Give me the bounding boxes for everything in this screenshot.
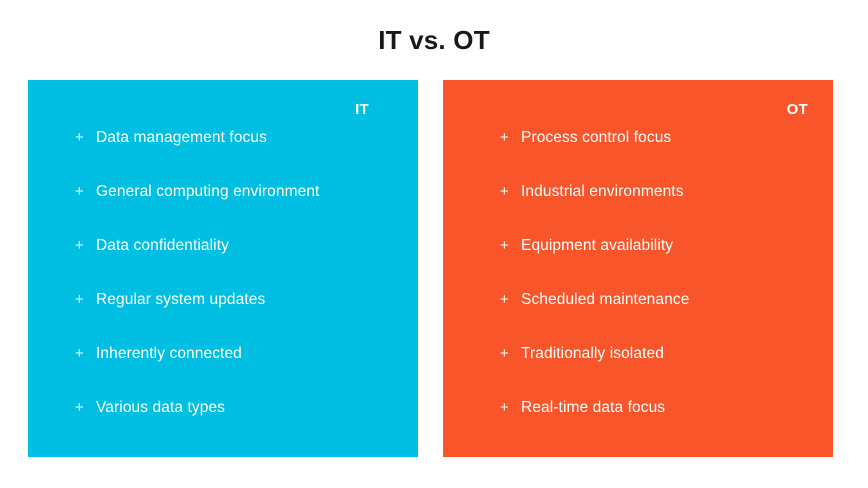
list-item: + Regular system updates [28,289,418,343]
page-title: IT vs. OT [0,24,868,56]
list-item-label: Equipment availability [521,235,833,257]
plus-icon: + [75,127,96,149]
list-item-label: Scheduled maintenance [521,289,833,311]
list-item: + Industrial environments [443,181,833,235]
list-item: + Traditionally isolated [443,343,833,397]
list-item-label: Inherently connected [96,343,418,365]
list-item: + Various data types [28,397,418,451]
plus-icon: + [500,235,521,257]
list-item: + Process control focus [443,127,833,181]
list-item: + Real-time data focus [443,397,833,451]
list-item-label: Various data types [96,397,418,419]
list-item-label: Data management focus [96,127,418,149]
plus-icon: + [500,397,521,419]
plus-icon: + [75,343,96,365]
list-item-label: General computing environment [96,181,418,203]
panel-it-header: IT [355,100,369,120]
list-item: + Equipment availability [443,235,833,289]
list-item-label: Traditionally isolated [521,343,833,365]
list-item-label: Process control focus [521,127,833,149]
list-item-label: Industrial environments [521,181,833,203]
plus-icon: + [500,343,521,365]
list-item: + Data confidentiality [28,235,418,289]
panel-ot-item-list: + Process control focus + Industrial env… [443,127,833,451]
panel-ot-header: OT [787,100,808,120]
list-item: + Data management focus [28,127,418,181]
plus-icon: + [500,127,521,149]
list-item-label: Data confidentiality [96,235,418,257]
list-item: + Inherently connected [28,343,418,397]
list-item-label: Regular system updates [96,289,418,311]
plus-icon: + [75,289,96,311]
plus-icon: + [500,181,521,203]
list-item: + Scheduled maintenance [443,289,833,343]
list-item-label: Real-time data focus [521,397,833,419]
comparison-panels: IT + Data management focus + General com… [28,80,833,457]
plus-icon: + [500,289,521,311]
list-item: + General computing environment [28,181,418,235]
panel-it-item-list: + Data management focus + General comput… [28,127,418,451]
panel-ot: OT + Process control focus + Industrial … [443,80,833,457]
plus-icon: + [75,235,96,257]
plus-icon: + [75,181,96,203]
plus-icon: + [75,397,96,419]
comparison-slide: IT vs. OT IT + Data management focus + G… [0,0,868,488]
panel-it: IT + Data management focus + General com… [28,80,418,457]
